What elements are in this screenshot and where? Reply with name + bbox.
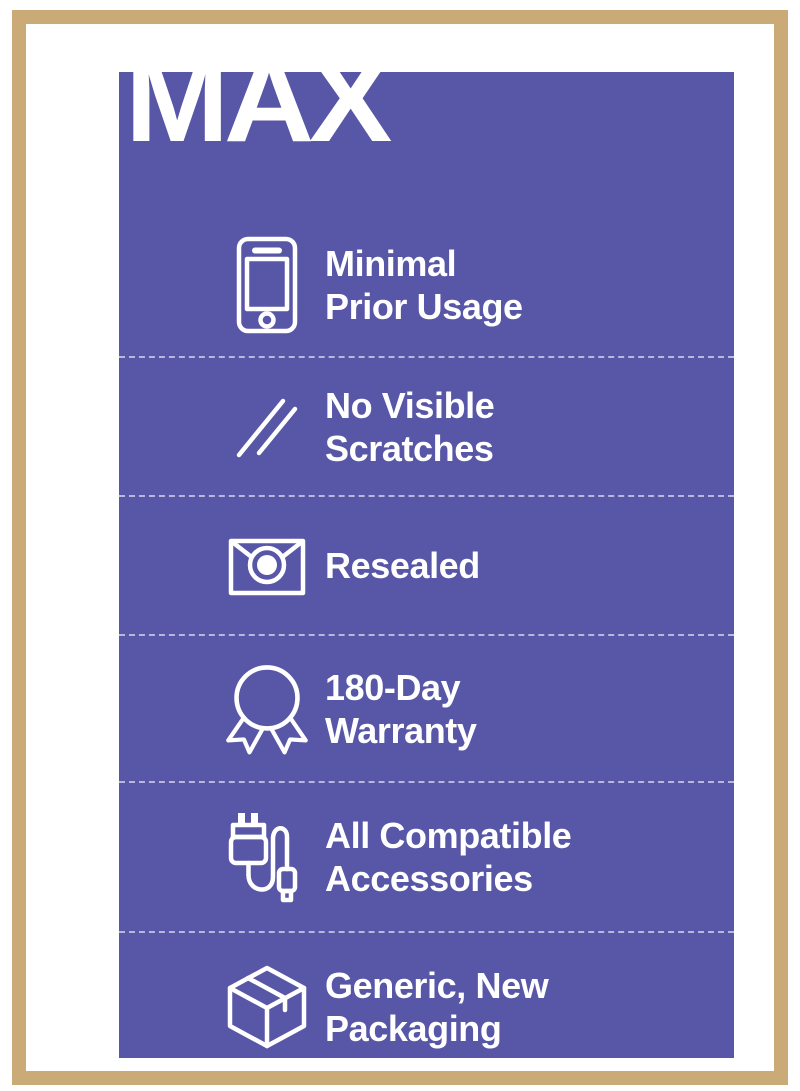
feature-label: No Visible Scratches (315, 384, 734, 470)
feature-label: Generic, New Packaging (315, 964, 734, 1050)
feature-row-accessories: All Compatible Accessories (119, 781, 734, 931)
feature-label: 180-Day Warranty (315, 666, 734, 752)
feature-row-packaging: Generic, New Packaging (119, 931, 734, 1058)
feature-row-no-visible-scratches: No Visible Scratches (119, 356, 734, 495)
sealed-envelope-icon (219, 535, 315, 597)
feature-panel: MAX Minimal Prior Usage (119, 72, 734, 1058)
poster-root: MAX Minimal Prior Usage (0, 0, 800, 1091)
feature-label: All Compatible Accessories (315, 814, 734, 900)
package-box-icon (219, 963, 315, 1051)
brand-wordmark: MAX (125, 72, 387, 160)
feature-row-minimal-prior-usage: Minimal Prior Usage (119, 214, 734, 356)
usb-cable-icon (219, 809, 315, 905)
feature-row-resealed: Resealed (119, 495, 734, 634)
feature-row-warranty: 180-Day Warranty (119, 634, 734, 781)
feature-label: Resealed (315, 544, 734, 587)
gold-border-frame: MAX Minimal Prior Usage (12, 10, 788, 1085)
smartphone-icon (219, 235, 315, 335)
award-ribbon-icon (219, 659, 315, 759)
feature-label: Minimal Prior Usage (315, 242, 734, 328)
feature-list: Minimal Prior Usage No Visible Scratches (119, 214, 734, 1058)
scratch-lines-icon (219, 391, 315, 463)
